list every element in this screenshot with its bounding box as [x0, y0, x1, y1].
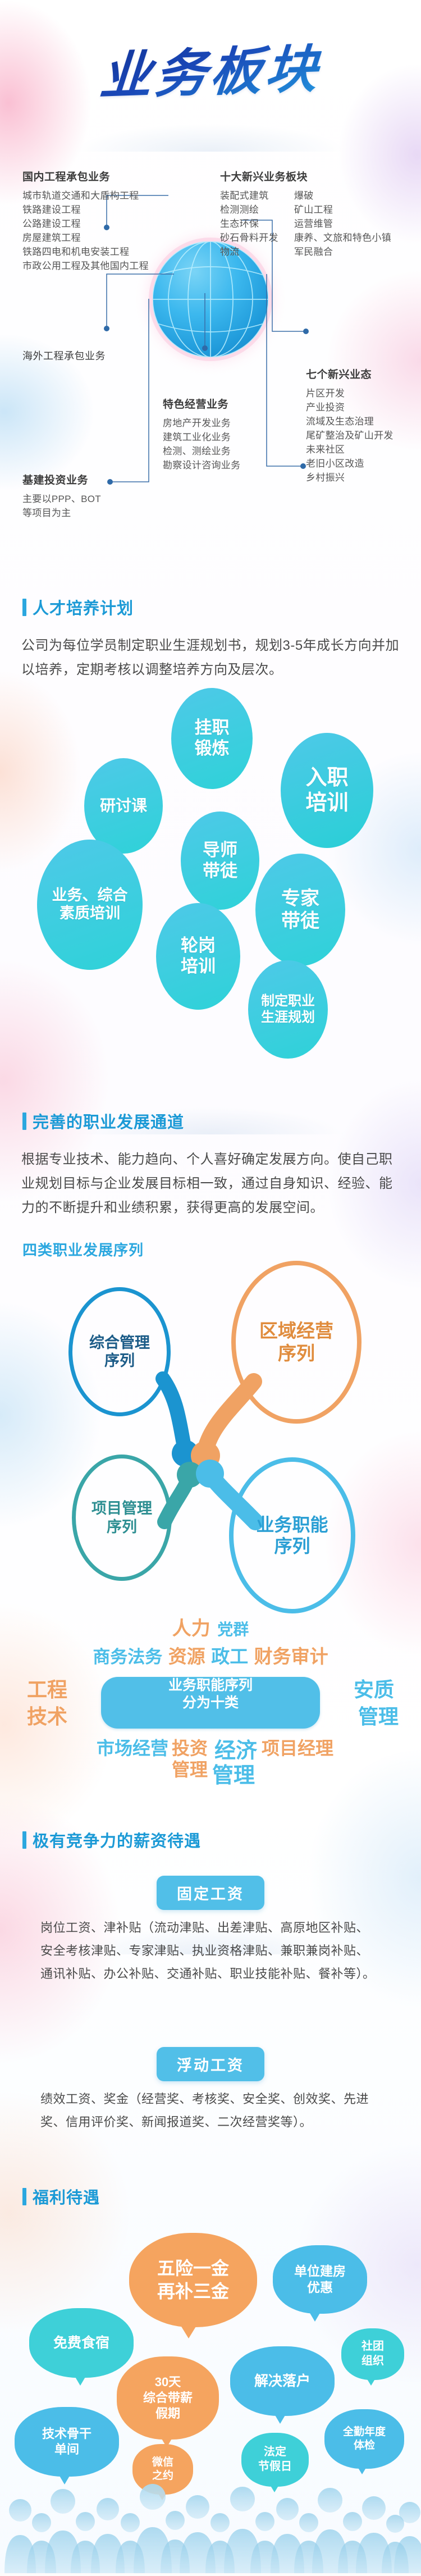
- salary-fixed-label: 固定工资: [157, 1876, 264, 1910]
- sequence-connectors: [0, 1258, 421, 1617]
- talent-bubble-expert: 专家 带徒: [255, 854, 345, 966]
- welfare-bubble-free-meals-tail: [73, 2373, 88, 2386]
- list-item: 建筑工业化业务: [163, 430, 240, 444]
- sequence-business-function: 业务职能 序列: [229, 1457, 355, 1613]
- wordcloud-word: 商务法务: [93, 1645, 162, 1669]
- welfare-bubble-housing: 单位建房 优惠: [273, 2245, 367, 2314]
- salary-floating-label: 浮动工资: [157, 2047, 264, 2081]
- salary-floating-text-block: 绩效工资、奖金（经营奖、考核奖、安全奖、创效奖、先进奖、信用评价奖、新闻报道奖、…: [0, 2087, 421, 2133]
- wordcloud-word: 安质: [354, 1674, 394, 1703]
- talent-bubble-mentor: 导师 带徒: [181, 811, 259, 910]
- list-item: 运营维管: [294, 217, 391, 231]
- business-infra: 基建投资业务 主要以PPP、BOT 等项目为主: [22, 472, 101, 520]
- talent-bubble-career-plan: 制定职业 生涯规划: [248, 960, 328, 1059]
- welfare-bubble-household-tail: [273, 2411, 287, 2424]
- list-item: 市政公用工程及其他国内工程: [22, 259, 149, 273]
- wordcloud-word: 项目经理: [262, 1734, 333, 1760]
- business-function-wordcloud: 人力 党群 商务法务 资源 政工 财务审计 工程 技术 业务职能序列 分为十类 …: [0, 1617, 421, 1791]
- list-item: 砂石骨料开发: [220, 231, 286, 245]
- business-map-section: 国内工程承包业务 城市轨道交通和大盾构工程 铁路建设工程 公路建设工程 房屋建筑…: [0, 168, 421, 539]
- wordcloud-word: 管理: [212, 1758, 255, 1789]
- talent-bubble-rotation: 轮岗 培训: [156, 903, 240, 1010]
- list-item: 铁路四电和机电安装工程: [22, 245, 149, 259]
- list-item: 勘察设计咨询业务: [163, 458, 240, 472]
- business-newforms-heading: 七个新兴业态: [306, 366, 393, 381]
- welfare-bubble-leave: 30天 综合带薪 假期: [117, 2356, 219, 2440]
- list-item: 等项目为主: [22, 506, 101, 520]
- business-overseas: 海外工程承包业务: [22, 348, 106, 368]
- salary-section: 极有竞争力的薪资待遇: [0, 1828, 421, 1852]
- list-item: 片区开发: [306, 386, 393, 400]
- business-overseas-heading: 海外工程承包业务: [22, 348, 106, 363]
- list-item: 产业投资: [306, 400, 393, 414]
- talent-bubble-quality-training: 业务、综合 素质培训: [37, 840, 143, 970]
- sequence-regional-operation: 区域经营 序列: [231, 1261, 361, 1424]
- list-item: 生态环保: [220, 217, 286, 231]
- career-sequences: 综合管理 序列 区域经营 序列 项目管理 序列 业务职能 序列: [0, 1258, 421, 1617]
- page-title: 业务板块: [98, 27, 324, 110]
- list-item: 铁路建设工程: [22, 203, 149, 217]
- list-item: 房地产开发业务: [163, 416, 240, 430]
- list-item: 检测、测绘业务: [163, 444, 240, 458]
- list-item: 房屋建筑工程: [22, 231, 149, 245]
- list-item: 未来社区: [306, 443, 393, 457]
- welfare-bubble-clubs-tail: [365, 2376, 377, 2386]
- wordcloud-word: 管理: [358, 1700, 399, 1730]
- welfare-bubble-clubs: 社团 组织: [341, 2328, 404, 2380]
- list-item: 检测测绘: [220, 203, 286, 217]
- heading-accent-bar: [22, 2188, 26, 2205]
- wordcloud-word: 财务审计: [254, 1645, 328, 1668]
- welfare-bubble-household: 解决落户: [230, 2346, 335, 2416]
- welfare-heading: 福利待遇: [0, 2185, 421, 2208]
- list-item: 物流: [220, 245, 286, 259]
- talent-heading: 人才培养计划: [0, 595, 421, 619]
- welfare-bubble-free-meals: 免费食宿: [29, 2308, 134, 2378]
- career-paragraph: 根据专业技术、能力趋向、个人喜好确定发展方向。使自己职业规划目标与企业发展目标相…: [0, 1147, 421, 1220]
- talent-bubbles: 研讨课 挂职 锻炼 入职 培训 导师 带徒 专家 带徒 业务、综合 素质培训 轮…: [0, 691, 421, 1039]
- list-item: 爆破: [294, 189, 391, 203]
- list-item: 流域及生态治理: [306, 414, 393, 428]
- salary-heading-text: 极有竞争力的薪资待遇: [33, 1828, 201, 1852]
- salary-fixed-text: 岗位工资、津补贴（流动津贴、出差津贴、高原地区补贴、安全考核津贴、专家津贴、执业…: [0, 1916, 421, 1985]
- talent-bubble-onboarding: 入职 培训: [281, 733, 373, 848]
- list-item: 城市轨道交通和大盾构工程: [22, 189, 149, 203]
- wordcloud-word: 管理: [172, 1756, 208, 1781]
- welfare-section: 福利待遇: [0, 2185, 421, 2208]
- career-subheading: 四类职业发展序列: [0, 1239, 421, 1260]
- welfare-bubble-housing-tail: [308, 2309, 322, 2322]
- talent-section: 人才培养计划 公司为每位学员制定职业生涯规划书，规划3-5年成长方向并加以培养，…: [0, 595, 421, 682]
- list-item: 装配式建筑: [220, 189, 286, 203]
- crowd-silhouette: [0, 2438, 421, 2573]
- business-newforms: 七个新兴业态 片区开发 产业投资 流域及生态治理 尾矿整治及矿山开发 未来社区 …: [306, 366, 393, 485]
- welfare-bubble-insurance-tail: [180, 2324, 198, 2338]
- business-special: 特色经营业务 房地产开发业务 建筑工业化业务 检测、测绘业务 勘察设计咨询业务: [163, 396, 240, 472]
- welfare-heading-text: 福利待遇: [33, 2185, 100, 2208]
- business-infra-heading: 基建投资业务: [22, 472, 101, 487]
- career-section: 完善的职业发展通道 根据专业技术、能力趋向、个人喜好确定发展方向。使自己职业规划…: [0, 1109, 421, 1260]
- wordcloud-word: 工程: [27, 1674, 67, 1703]
- sequence-project-management: 项目管理 序列: [72, 1455, 172, 1581]
- talent-heading-text: 人才培养计划: [33, 595, 134, 619]
- wordcloud-word: 人力: [172, 1617, 210, 1640]
- wordcloud-center-pill: 业务职能序列 分为十类: [101, 1677, 320, 1729]
- career-heading-text: 完善的职业发展通道: [33, 1109, 184, 1133]
- salary-fixed-text-block: 岗位工资、津补贴（流动津贴、出差津贴、高原地区补贴、安全考核津贴、专家津贴、执业…: [0, 1916, 421, 1985]
- list-item: 军民融合: [294, 245, 391, 259]
- business-domestic-heading: 国内工程承包业务: [22, 168, 149, 184]
- salary-floating-text: 绩效工资、奖金（经营奖、考核奖、安全奖、创效奖、先进奖、信用评价奖、新闻报道奖、…: [0, 2087, 421, 2133]
- wordcloud-word: 政工: [211, 1645, 248, 1668]
- heading-accent-bar: [22, 1831, 26, 1849]
- heading-accent-bar: [22, 1113, 26, 1130]
- career-heading: 完善的职业发展通道: [0, 1109, 421, 1133]
- sequence-general-management: 综合管理 序列: [68, 1287, 171, 1416]
- wordcloud-word: 党群: [217, 1618, 249, 1641]
- page-title-block: 业务板块: [0, 31, 421, 106]
- list-item: 乡村振兴: [306, 471, 393, 485]
- list-item: 尾矿整治及矿山开发: [306, 428, 393, 443]
- salary-heading: 极有竞争力的薪资待遇: [0, 1828, 421, 1852]
- business-domestic: 国内工程承包业务 城市轨道交通和大盾构工程 铁路建设工程 公路建设工程 房屋建筑…: [22, 168, 149, 273]
- business-special-heading: 特色经营业务: [163, 396, 240, 411]
- list-item: 老旧小区改造: [306, 457, 393, 471]
- heading-accent-bar: [22, 599, 26, 616]
- wordcloud-word: 技术: [27, 1700, 67, 1730]
- list-item: 主要以PPP、BOT: [22, 492, 101, 506]
- business-emerging: 十大新兴业务板块 装配式建筑 检测测绘 生态环保 砂石骨料开发 物流 爆破 矿山…: [220, 168, 391, 259]
- wordcloud-word: 市场经营: [97, 1734, 168, 1760]
- talent-bubble-research-class: 研讨课: [84, 758, 163, 854]
- talent-bubble-temp-post: 挂职 锻炼: [171, 688, 253, 789]
- welfare-bubble-insurance: 五险一金 再补三金: [129, 2233, 257, 2327]
- list-item: 康养、文旅和特色小镇: [294, 231, 391, 245]
- talent-paragraph: 公司为每位学员制定职业生涯规划书，规划3-5年成长方向并加以培养，定期考核以调整…: [0, 633, 421, 682]
- list-item: 公路建设工程: [22, 217, 149, 231]
- wordcloud-word: 资源: [168, 1645, 205, 1668]
- list-item: 矿山工程: [294, 203, 391, 217]
- business-emerging-heading: 十大新兴业务板块: [220, 168, 391, 184]
